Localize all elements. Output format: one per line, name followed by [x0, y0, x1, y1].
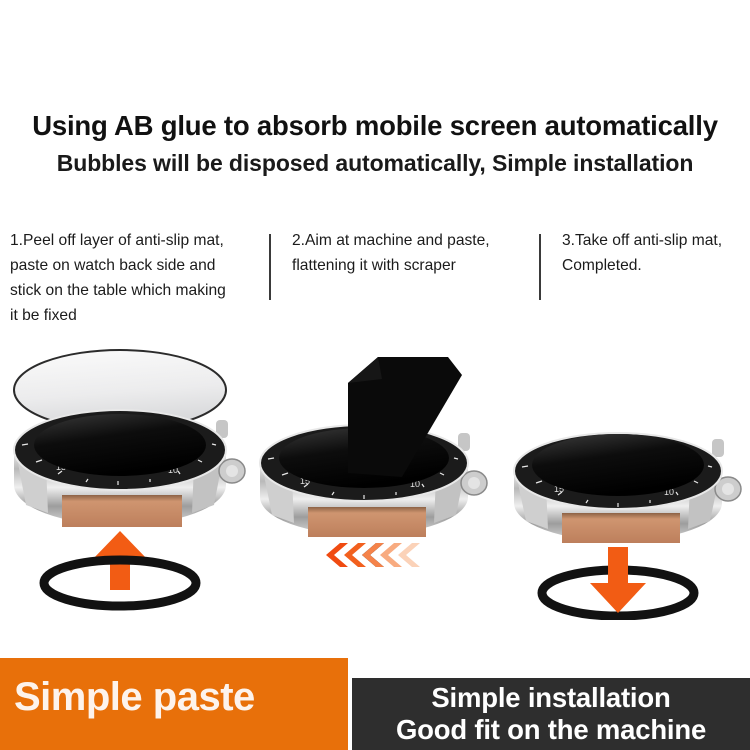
illustration-row: 15 10 — [0, 345, 750, 620]
step-1-line-3: stick on the table which making — [10, 278, 262, 303]
arrow-up-overlap — [110, 573, 130, 590]
page-subtitle: Bubbles will be disposed automatically, … — [0, 150, 750, 177]
smartwatch-with-lifted-film-image: 15 10 — [0, 345, 250, 620]
watch-face — [34, 414, 206, 476]
step-1-line-1: 1.Peel off layer of anti-slip mat, — [10, 228, 262, 253]
watch-strap — [562, 513, 680, 543]
illustration-panel-2: 15 10 — [252, 345, 502, 620]
step-1-line-4: it be fixed — [10, 303, 262, 328]
smartwatch-completed-image: 15 10 — [500, 345, 750, 620]
instruction-step-3: 3.Take off anti-slip mat, Completed. — [562, 228, 748, 278]
instruction-steps: 1.Peel off layer of anti-slip mat, paste… — [0, 228, 750, 348]
column-divider-1 — [269, 234, 271, 300]
instruction-step-1: 1.Peel off layer of anti-slip mat, paste… — [10, 228, 262, 328]
step-2-line-2: flattening it with scraper — [292, 253, 530, 278]
watch-crown-center — [468, 477, 480, 489]
step-3-line-1: 3.Take off anti-slip mat, — [562, 228, 748, 253]
banner-dark-line-2: Good fit on the machine — [352, 714, 750, 746]
banner-dark-line-1: Simple installation — [352, 682, 750, 714]
watch-strap — [62, 495, 182, 527]
illustration-panel-3: 15 10 — [500, 345, 750, 620]
step-1-line-2: paste on watch back side and — [10, 253, 262, 278]
banner-installation: Simple installation Good fit on the mach… — [352, 678, 750, 750]
watch-crown-center — [722, 483, 734, 495]
step-2-line-1: 2.Aim at machine and paste, — [292, 228, 530, 253]
watch-crown-center — [226, 465, 238, 477]
instruction-step-2: 2.Aim at machine and paste, flattening i… — [292, 228, 530, 278]
step-3-line-2: Completed. — [562, 253, 748, 278]
banner-orange-text: Simple paste — [14, 675, 255, 720]
scraper-tool-edge — [348, 357, 382, 383]
column-divider-2 — [539, 234, 541, 300]
arrow-down-icon — [590, 547, 646, 613]
illustration-panel-1: 15 10 — [0, 345, 250, 620]
page-title: Using AB glue to absorb mobile screen au… — [0, 110, 750, 142]
chevrons-left-icon — [326, 543, 420, 567]
watch-face — [532, 434, 704, 496]
watch-strap — [308, 507, 426, 537]
banner-simple-paste: Simple paste — [0, 658, 348, 750]
watch-side-button — [712, 439, 724, 457]
smartwatch-with-scraper-image: 15 10 — [252, 345, 502, 620]
